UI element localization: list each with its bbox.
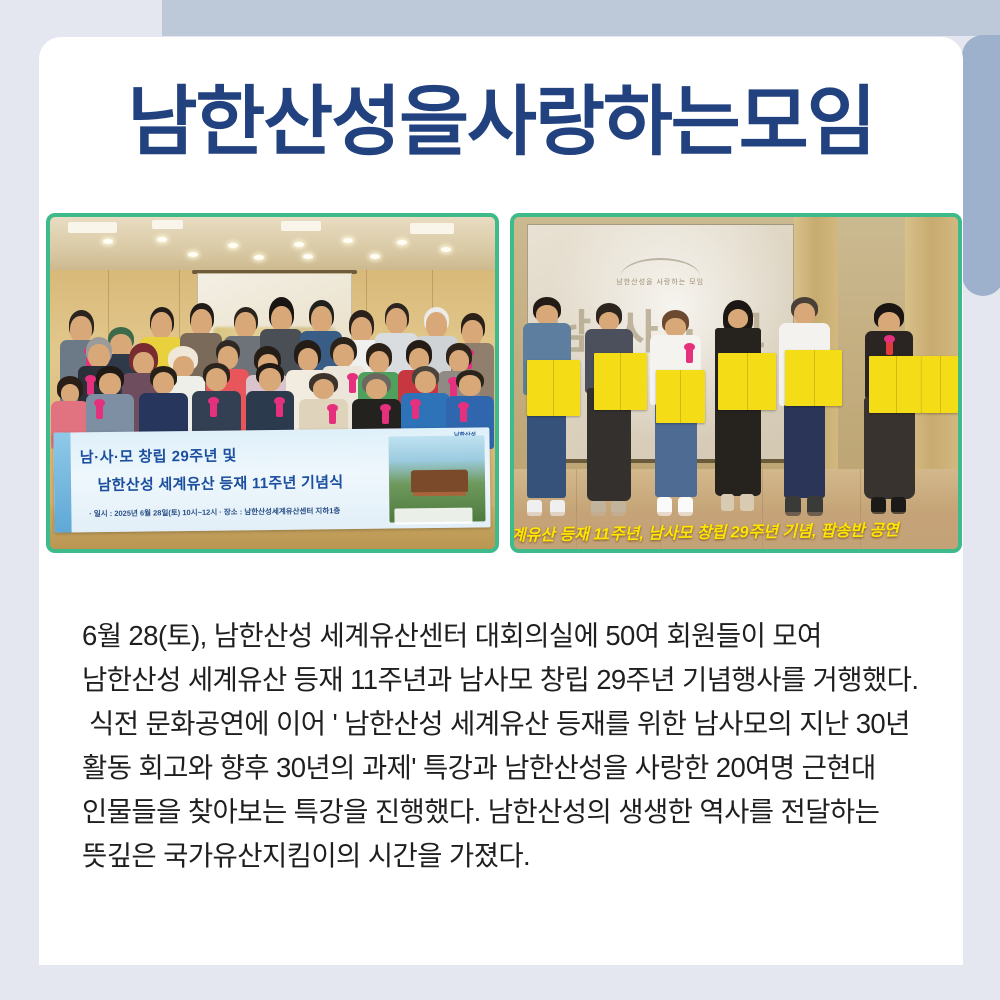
choir-singer — [580, 303, 638, 515]
banner-sponsor-logos — [395, 507, 474, 524]
banner-line-1: 남·사·모 창립 29주년 및 — [80, 444, 237, 467]
song-folder — [718, 353, 776, 409]
group-commemoration-photo[interactable]: 남·사·모 창립 29주년 및 남한산성 세계유산 등재 11주년 기념식 · … — [46, 213, 499, 553]
page-title: 남한산성을사랑하는모임 — [39, 75, 963, 170]
photo-gallery: 남·사·모 창립 29주년 및 남한산성 세계유산 등재 11주년 기념식 · … — [46, 213, 962, 553]
banner-line-2: 남한산성 세계유산 등재 11주년 기념식 — [98, 470, 344, 494]
song-folder — [594, 353, 647, 409]
content-card: 남한산성을사랑하는모임 — [39, 37, 963, 965]
choir-singer — [776, 297, 834, 516]
song-folder — [527, 360, 580, 416]
song-folder — [656, 370, 705, 423]
song-folder — [922, 356, 958, 412]
event-banner: 남·사·모 창립 29주년 및 남한산성 세계유산 등재 11주년 기념식 · … — [54, 427, 491, 532]
banner-line-3: · 일시 : 2025년 6월 28일(토) 10시~12시 · 장소 : 남한… — [90, 504, 341, 518]
background-accent-band — [162, 0, 1000, 36]
article-body: 6월 28(토), 남한산성 세계유산센터 대회의실에 50여 회원들이 모여 … — [82, 614, 927, 878]
page-title-container: 남한산성을사랑하는모임 — [39, 75, 963, 170]
photo-caption-bar: 세계유산 등재 11주년, 남사모 창립 29주년 기념, 팝송반 공연 — [514, 512, 959, 549]
song-folder — [869, 356, 922, 412]
banner-gate-roof — [411, 469, 469, 492]
page-root: 남한산성을사랑하는모임 — [0, 0, 1000, 1000]
banner-side-tab — [54, 432, 73, 532]
song-folder — [785, 350, 843, 406]
choir-performers — [514, 217, 959, 549]
photo-caption-text: 세계유산 등재 11주년, 남사모 창립 29주년 기념, 팝송반 공연 — [510, 516, 899, 546]
background-accent-block — [962, 35, 1000, 296]
popsong-performance-photo[interactable]: 남한산성을 사랑하는 모임 남 사 · 모 — [510, 213, 963, 553]
